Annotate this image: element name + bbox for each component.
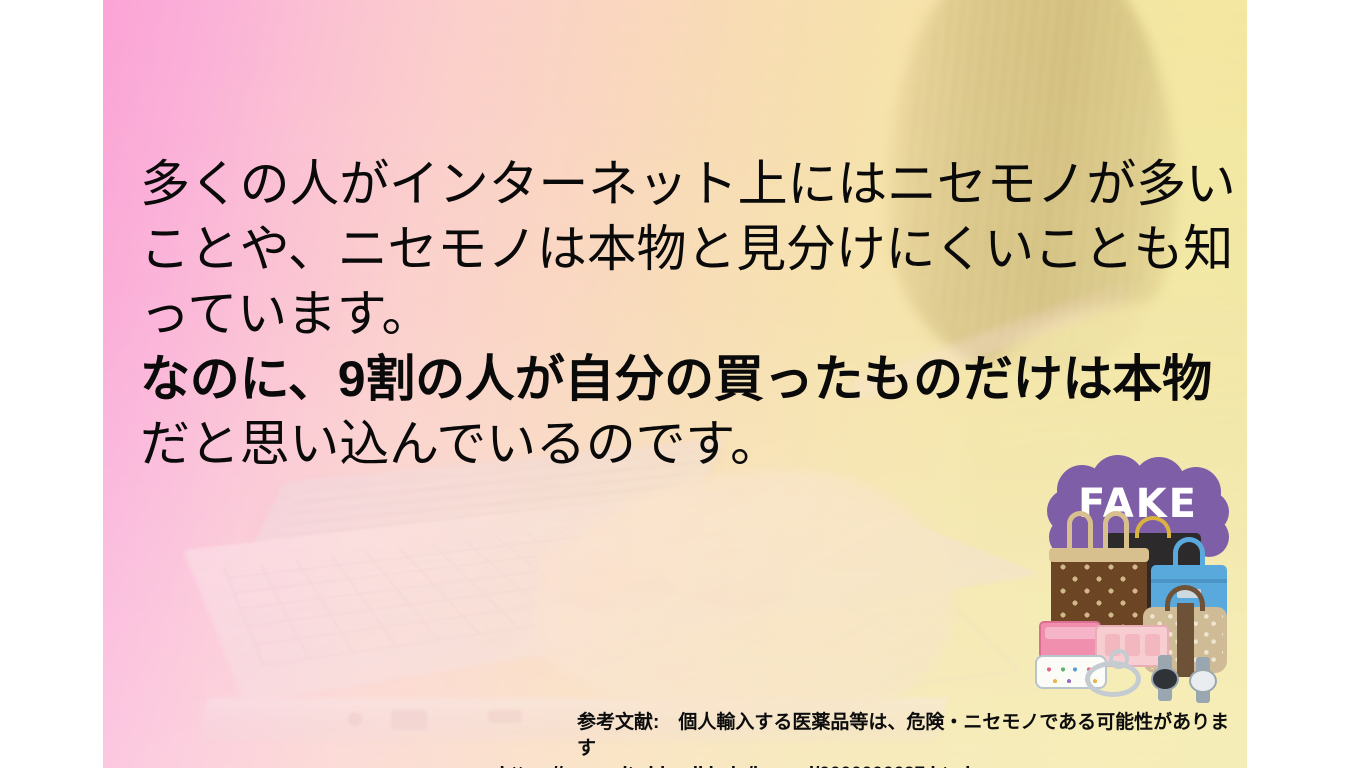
wristwatch-light-face: [1189, 669, 1217, 693]
ring: [1109, 649, 1129, 669]
wristwatch-dark: [1151, 655, 1179, 701]
body-line-3: っています。: [140, 282, 1240, 347]
handbag-brown-pattern: [1057, 561, 1141, 627]
fake-goods-illustration: FAKE: [1033, 455, 1243, 700]
citation-url[interactable]: https://www.city.himeji.lg.jp/bousai/000…: [103, 762, 1247, 768]
wristwatch-dark-face: [1151, 667, 1179, 691]
wristwatch-light: [1189, 657, 1217, 703]
body-line-2: ことや、ニセモノは本物と見分けにくいことも知: [140, 217, 1240, 282]
slide-root: 多くの人がインターネット上にはニセモノが多い ことや、ニセモノは本物と見分けにく…: [0, 0, 1366, 768]
slide-canvas: 多くの人がインターネット上にはニセモノが多い ことや、ニセモノは本物と見分けにく…: [103, 0, 1247, 768]
wallet-pink: [1039, 621, 1101, 659]
wallet-blush-segment-3: [1145, 634, 1160, 656]
body-line-4: なのに、9割の人が自分の買ったものだけは本物: [140, 347, 1240, 412]
handbag-blue-handle: [1173, 537, 1205, 569]
handbag-blue-strap: [1151, 579, 1227, 583]
citation-block: 参考文献: 個人輸入する医薬品等は、危険・ニセモノである可能性があります htt…: [103, 710, 1247, 768]
slide-body-text: 多くの人がインターネット上にはニセモノが多い ことや、ニセモノは本物と見分けにく…: [140, 152, 1240, 477]
wallet-pink-flap: [1045, 627, 1099, 639]
handbag-brown-trim: [1049, 548, 1149, 562]
body-line-1: 多くの人がインターネット上にはニセモノが多い: [140, 152, 1240, 217]
citation-source: 参考文献: 個人輸入する医薬品等は、危険・ニセモノである可能性があります: [103, 710, 1247, 762]
